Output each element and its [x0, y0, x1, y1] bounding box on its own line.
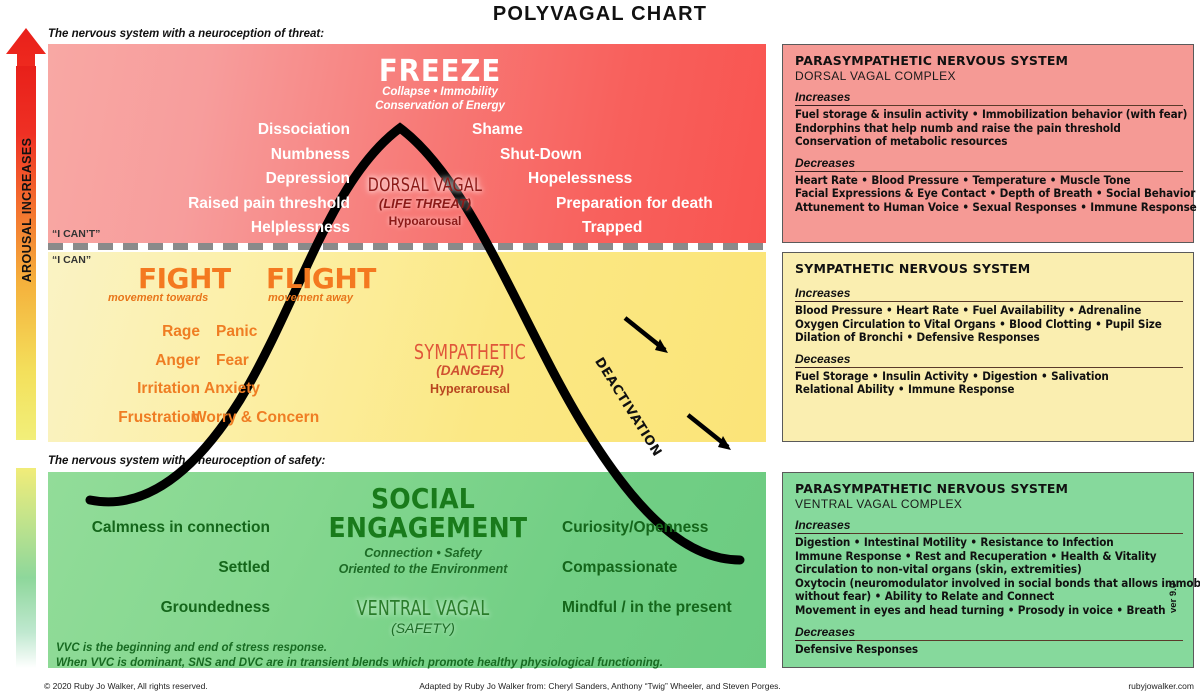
panel-section-body: Fuel Storage • Insulin Activity • Digest…: [795, 370, 1183, 397]
panel-section-label: Deceases: [795, 352, 850, 368]
list-item: Panic: [192, 318, 342, 347]
freeze-subtitle-line1: Collapse • Immobility: [320, 85, 560, 99]
social-engagement-line1: SOCIAL: [329, 484, 518, 513]
panel-section-label: Decreases: [795, 156, 855, 172]
list-item: Curiosity/Openness: [562, 508, 792, 548]
panel-line: Fuel Storage • Insulin Activity • Digest…: [795, 370, 1183, 384]
list-item: Shut-Down: [472, 143, 762, 168]
panel-subheading: DORSAL VAGAL COMPLEX: [795, 69, 1183, 83]
panel-line: Fuel storage & insulin activity • Immobi…: [795, 108, 1183, 122]
panel-line: Heart Rate • Blood Pressure • Temperatur…: [795, 174, 1183, 188]
panel-line: Immune Response • Rest and Recuperation …: [795, 550, 1183, 564]
threshold-divider: [48, 243, 766, 250]
dorsal-vagal-name: DORSAL VAGAL: [354, 174, 497, 196]
panel-section-body: Fuel storage & insulin activity • Immobi…: [795, 108, 1183, 149]
list-item: Depression: [30, 167, 350, 192]
ventral-left-words: Calmness in connection Settled Groundedn…: [40, 508, 270, 628]
social-engagement-subtitle-line1: Connection • Safety: [300, 546, 546, 562]
ventral-right-words: Curiosity/Openness Compassionate Mindful…: [562, 508, 792, 628]
list-item: Settled: [40, 548, 270, 588]
panel-line: without fear) • Ability to Relate and Co…: [795, 590, 1183, 604]
list-item: Compassionate: [562, 548, 792, 588]
freeze-title: FREEZE: [339, 54, 541, 89]
panel-heading: PARASYMPATHETIC NERVOUS SYSTEM: [795, 481, 1183, 496]
panel-rule: [795, 301, 1183, 302]
dorsal-left-words: Dissociation Numbness Depression Raised …: [30, 118, 350, 241]
sympathetic-left-words: Rage Anger Irritation Frustration: [20, 318, 200, 432]
panel-line: Oxygen Circulation to Vital Organs • Blo…: [795, 318, 1183, 332]
list-item: Preparation for death: [472, 192, 762, 217]
page-title: POLYVAGAL CHART: [0, 3, 1200, 26]
footer-credit: Adapted by Ruby Jo Walker from: Cheryl S…: [0, 681, 1200, 695]
ventral-vagal-qualifier: (SAFETY): [328, 620, 518, 636]
panel-line: Blood Pressure • Heart Rate • Fuel Avail…: [795, 304, 1183, 318]
sympathetic-arousal-type: Hyperarousal: [340, 382, 600, 396]
dorsal-right-words: Shame Shut-Down Hopelessness Preparation…: [472, 118, 762, 241]
footer-website[interactable]: rubyjowalker.com: [1060, 681, 1194, 695]
list-item: Groundedness: [40, 588, 270, 628]
panel-heading: SYMPATHETIC NERVOUS SYSTEM: [795, 261, 1183, 276]
vvc-note: VVC is the beginning and end of stress r…: [56, 641, 746, 670]
panel-dorsal-vagal: PARASYMPATHETIC NERVOUS SYSTEM DORSAL VA…: [782, 44, 1194, 243]
list-item: Irritation: [20, 375, 200, 404]
panel-section-label: Increases: [795, 90, 850, 106]
flight-title: FLIGHT: [266, 262, 376, 295]
list-item: Trapped: [472, 216, 762, 241]
flight-subtitle: movement away: [268, 292, 353, 304]
panel-line: Oxytocin (neuromodulator involved in soc…: [795, 577, 1183, 591]
panel-line: Defensive Responses: [795, 643, 1183, 657]
sympathetic-qualifier: (DANGER): [340, 363, 600, 378]
list-item: Dissociation: [30, 118, 350, 143]
list-item: Anger: [20, 347, 200, 376]
list-item: Numbness: [30, 143, 350, 168]
list-item: Worry & Concern: [192, 404, 342, 433]
panel-line: Conservation of metabolic resources: [795, 135, 1183, 149]
list-item: Shame: [472, 118, 762, 143]
fight-title: FIGHT: [138, 262, 231, 295]
threat-caption: The nervous system with a neuroception o…: [48, 28, 324, 40]
vvc-note-line2: When VVC is dominant, SNS and DVC are in…: [56, 656, 746, 671]
up-arrow-icon: [6, 28, 46, 70]
vvc-note-line1: VVC is the beginning and end of stress r…: [56, 641, 746, 656]
panel-line: Circulation to non-vital organs (skin, e…: [795, 563, 1183, 577]
panel-section-label: Decreases: [795, 625, 855, 641]
dorsal-vagal-qualifier: (LIFE THREAT): [340, 196, 510, 211]
panel-section-label: Increases: [795, 286, 850, 302]
list-item: Raised pain threshold: [30, 192, 350, 217]
list-item: Calmness in connection: [40, 508, 270, 548]
panel-line: Dilation of Bronchi • Defensive Response…: [795, 331, 1183, 345]
panel-sympathetic: SYMPATHETIC NERVOUS SYSTEM Increases Blo…: [782, 252, 1194, 442]
list-item: Frustration: [20, 404, 200, 433]
panel-heading: PARASYMPATHETIC NERVOUS SYSTEM: [795, 53, 1183, 68]
panel-subheading: VENTRAL VAGAL COMPLEX: [795, 497, 1183, 511]
list-item: Hopelessness: [472, 167, 762, 192]
social-engagement-line2: ENGAGEMENT: [329, 513, 518, 542]
list-item: Rage: [20, 318, 200, 347]
panel-section-body: Defensive Responses: [795, 643, 1183, 657]
list-item: Anxiety: [192, 375, 342, 404]
ventral-vagal-name: VENTRAL VAGAL: [339, 596, 506, 620]
panel-line: Digestion • Intestinal Motility • Resist…: [795, 536, 1183, 550]
fight-subtitle: movement towards: [108, 292, 208, 304]
sympathetic-name: SYMPATHETIC: [356, 340, 585, 364]
freeze-subtitle: Collapse • Immobility Conservation of En…: [320, 85, 560, 113]
panel-rule: [795, 533, 1183, 534]
panel-line: Movement in eyes and head turning • Pros…: [795, 604, 1183, 618]
safety-caption: The nervous system with a neuroception o…: [48, 455, 325, 467]
social-engagement-subtitle-line2: Oriented to the Environment: [300, 562, 546, 578]
dorsal-arousal-type: Hypoarousal: [340, 214, 510, 228]
panel-line: Facial Expressions & Eye Contact • Depth…: [795, 187, 1183, 201]
freeze-subtitle-line2: Conservation of Energy: [320, 99, 560, 113]
social-engagement-subtitle: Connection • Safety Oriented to the Envi…: [300, 546, 546, 577]
safety-gradient-bar: [16, 468, 36, 668]
panel-section-body: Heart Rate • Blood Pressure • Temperatur…: [795, 174, 1183, 215]
panel-section-body: Digestion • Intestinal Motility • Resist…: [795, 536, 1183, 618]
panel-line: Attunement to Human Voice • Sexual Respo…: [795, 201, 1183, 215]
panel-line: Endorphins that help numb and raise the …: [795, 122, 1183, 136]
panel-rule: [795, 367, 1183, 368]
social-engagement-title: SOCIAL ENGAGEMENT: [329, 484, 518, 542]
list-item: Fear: [192, 347, 342, 376]
panel-section-body: Blood Pressure • Heart Rate • Fuel Avail…: [795, 304, 1183, 345]
list-item: Mindful / in the present: [562, 588, 792, 628]
i-can-label: “I CAN”: [52, 254, 91, 266]
panel-line: Relational Ability • Immune Response: [795, 383, 1183, 397]
polyvagal-chart-page: POLYVAGAL CHART AROUSAL INCREASES The ne…: [0, 0, 1200, 699]
panel-rule: [795, 105, 1183, 106]
panel-ventral-vagal: PARASYMPATHETIC NERVOUS SYSTEM VENTRAL V…: [782, 472, 1194, 668]
i-cant-label: “I CAN’T”: [52, 228, 100, 240]
version-tag: ver 9.0: [1168, 583, 1179, 613]
panel-section-label: Increases: [795, 518, 850, 534]
sympathetic-right-words: Panic Fear Anxiety Worry & Concern: [192, 318, 342, 432]
